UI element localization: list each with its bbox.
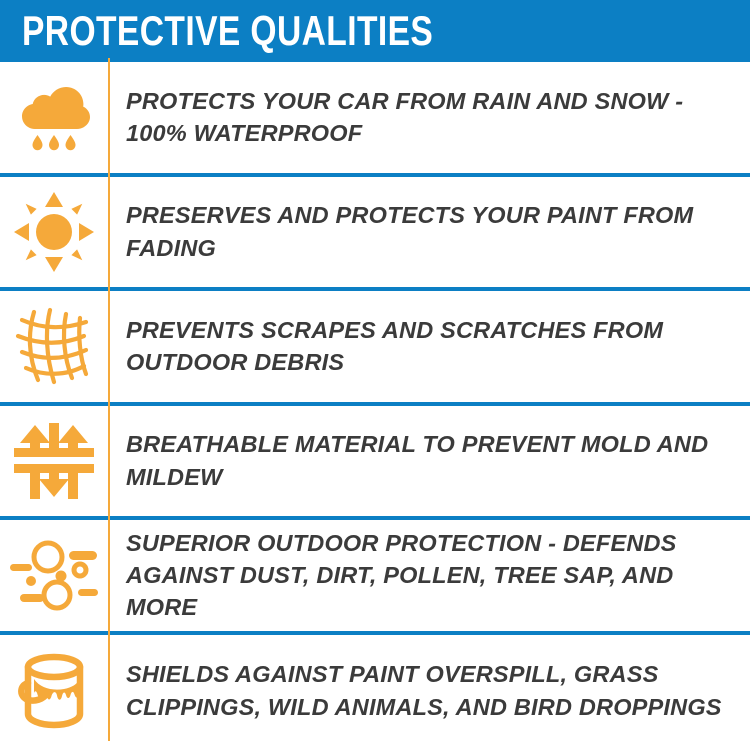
list-item: BREATHABLE MATERIAL TO PREVENT MOLD AND … xyxy=(0,406,750,521)
icon-cell xyxy=(0,62,108,173)
list-item-label: PRESERVES AND PROTECTS YOUR PAINT FROM F… xyxy=(126,199,738,264)
list-item: SHIELDS AGAINST PAINT OVERSPILL, GRASS C… xyxy=(0,635,750,747)
icon-cell xyxy=(0,635,108,747)
text-cell: PROTECTS YOUR CAR FROM RAIN AND SNOW - 1… xyxy=(108,85,750,150)
icon-cell xyxy=(0,406,108,517)
list-item-label: SHIELDS AGAINST PAINT OVERSPILL, GRASS C… xyxy=(126,658,738,723)
list-item: SUPERIOR OUTDOOR PROTECTION - DEFENDS AG… xyxy=(0,520,750,635)
sun-icon xyxy=(14,192,94,272)
scratch-mesh-icon xyxy=(12,304,96,388)
dust-particles-icon xyxy=(8,537,100,613)
list-item: PROTECTS YOUR CAR FROM RAIN AND SNOW - 1… xyxy=(0,62,750,177)
list-item-label: PROTECTS YOUR CAR FROM RAIN AND SNOW - 1… xyxy=(126,85,738,150)
text-cell: PREVENTS SCRAPES AND SCRATCHES FROM OUTD… xyxy=(108,314,750,379)
list-item-label: PREVENTS SCRAPES AND SCRATCHES FROM OUTD… xyxy=(126,314,738,379)
protective-qualities-infographic: PROTECTIVE QUALITIES PROTEC xyxy=(0,0,750,750)
icon-cell xyxy=(0,291,108,402)
icon-cell xyxy=(0,177,108,288)
page-title: PROTECTIVE QUALITIES xyxy=(22,10,433,52)
list-item: PRESERVES AND PROTECTS YOUR PAINT FROM F… xyxy=(0,177,750,292)
header-bar: PROTECTIVE QUALITIES xyxy=(0,0,750,62)
list-item-label: SUPERIOR OUTDOOR PROTECTION - DEFENDS AG… xyxy=(126,527,738,624)
text-cell: BREATHABLE MATERIAL TO PREVENT MOLD AND … xyxy=(108,428,750,493)
text-cell: PRESERVES AND PROTECTS YOUR PAINT FROM F… xyxy=(108,199,750,264)
paint-can-icon xyxy=(14,651,94,731)
text-cell: SUPERIOR OUTDOOR PROTECTION - DEFENDS AG… xyxy=(108,527,750,624)
text-cell: SHIELDS AGAINST PAINT OVERSPILL, GRASS C… xyxy=(108,658,750,723)
list-item: PREVENTS SCRAPES AND SCRATCHES FROM OUTD… xyxy=(0,291,750,406)
feature-list: PROTECTS YOUR CAR FROM RAIN AND SNOW - 1… xyxy=(0,62,750,747)
breathable-airflow-arrows-icon xyxy=(12,421,96,501)
list-item-label: BREATHABLE MATERIAL TO PREVENT MOLD AND … xyxy=(126,428,738,493)
icon-cell xyxy=(0,520,108,631)
rain-cloud-icon xyxy=(15,79,93,155)
